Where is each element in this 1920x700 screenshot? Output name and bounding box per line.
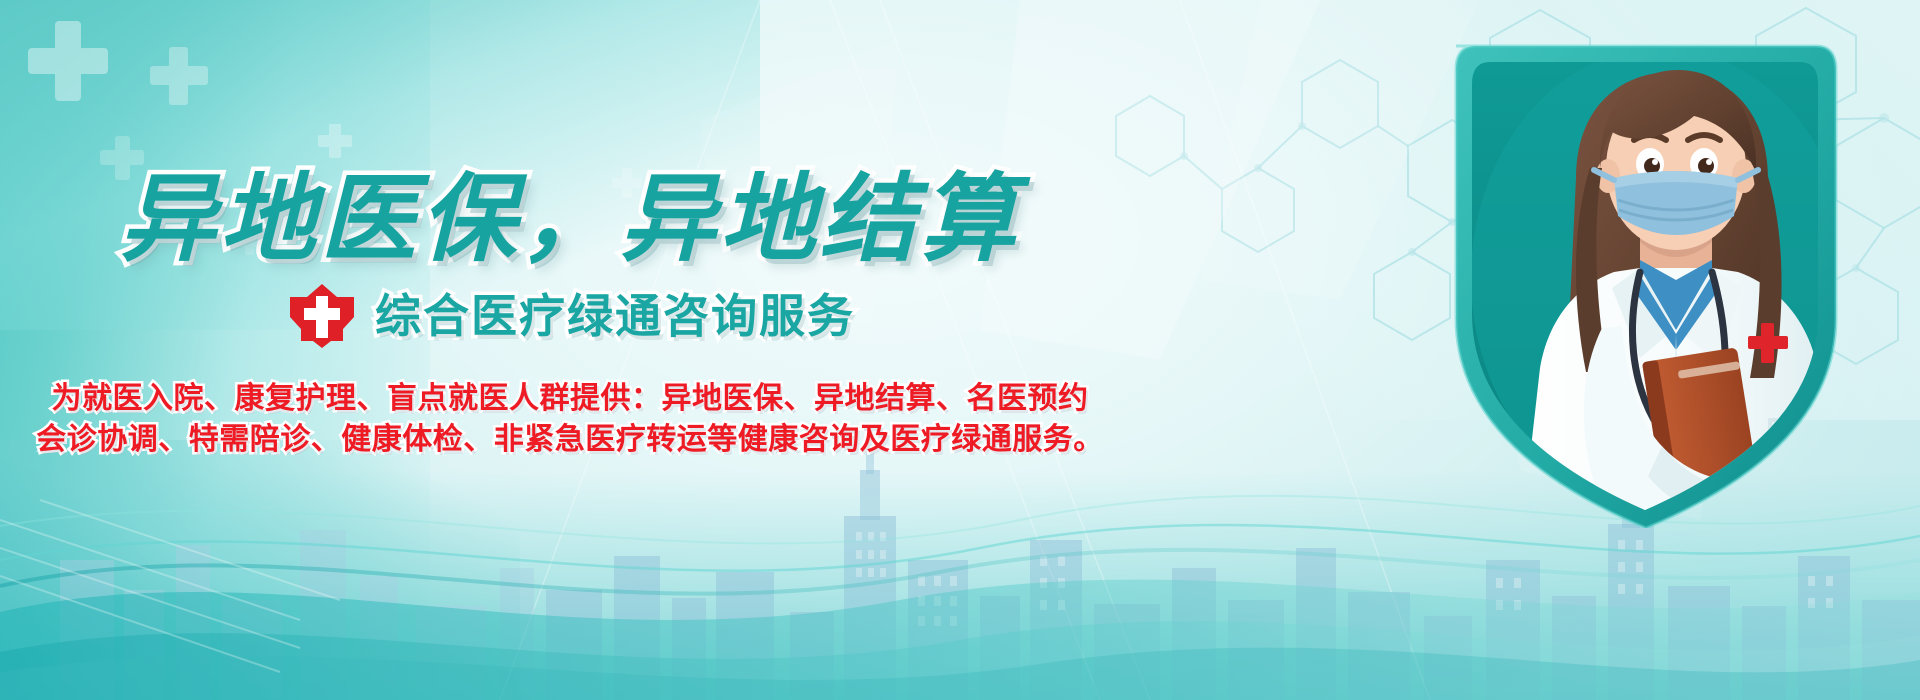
page-subtitle: 综合医疗绿通咨询服务 (375, 288, 855, 344)
doctor-illustration (1426, 28, 1846, 528)
page-title: 异地医保，异地结算 (0, 166, 1140, 274)
service-description: 为就医入院、康复护理、盲点就医人群提供：异地医保、异地结算、名医预约 会诊协调、… (0, 378, 1140, 460)
doctor-shield-illustration (1426, 28, 1846, 528)
banner-text-block: 异地医保，异地结算 综合医疗绿通咨询服务 为就医入院、康复护理、盲点就医人群提供… (0, 0, 1140, 700)
subtitle-row: 综合医疗绿通咨询服务 (0, 283, 1140, 349)
service-description-line-2: 会诊协调、特需陪诊、健康体检、非紧急医疗转运等健康咨询及医疗绿通服务。 (0, 419, 1140, 460)
medical-cross-icon (285, 283, 359, 349)
service-description-line-1: 为就医入院、康复护理、盲点就医人群提供：异地医保、异地结算、名医预约 (0, 378, 1140, 419)
healthcare-promo-banner: 异地医保，异地结算 综合医疗绿通咨询服务 为就医入院、康复护理、盲点就医人群提供… (0, 0, 1920, 700)
